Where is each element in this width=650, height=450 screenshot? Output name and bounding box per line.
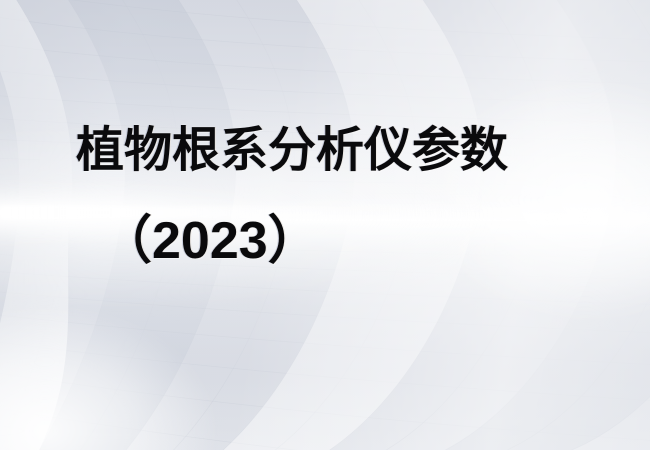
slide-subtitle-year: （2023） xyxy=(100,212,320,270)
slide-text-layer: 植物根系分析仪参数 （2023） xyxy=(0,0,650,450)
title-slide: 植物根系分析仪参数 （2023） xyxy=(0,0,650,450)
slide-title: 植物根系分析仪参数 xyxy=(76,124,508,178)
